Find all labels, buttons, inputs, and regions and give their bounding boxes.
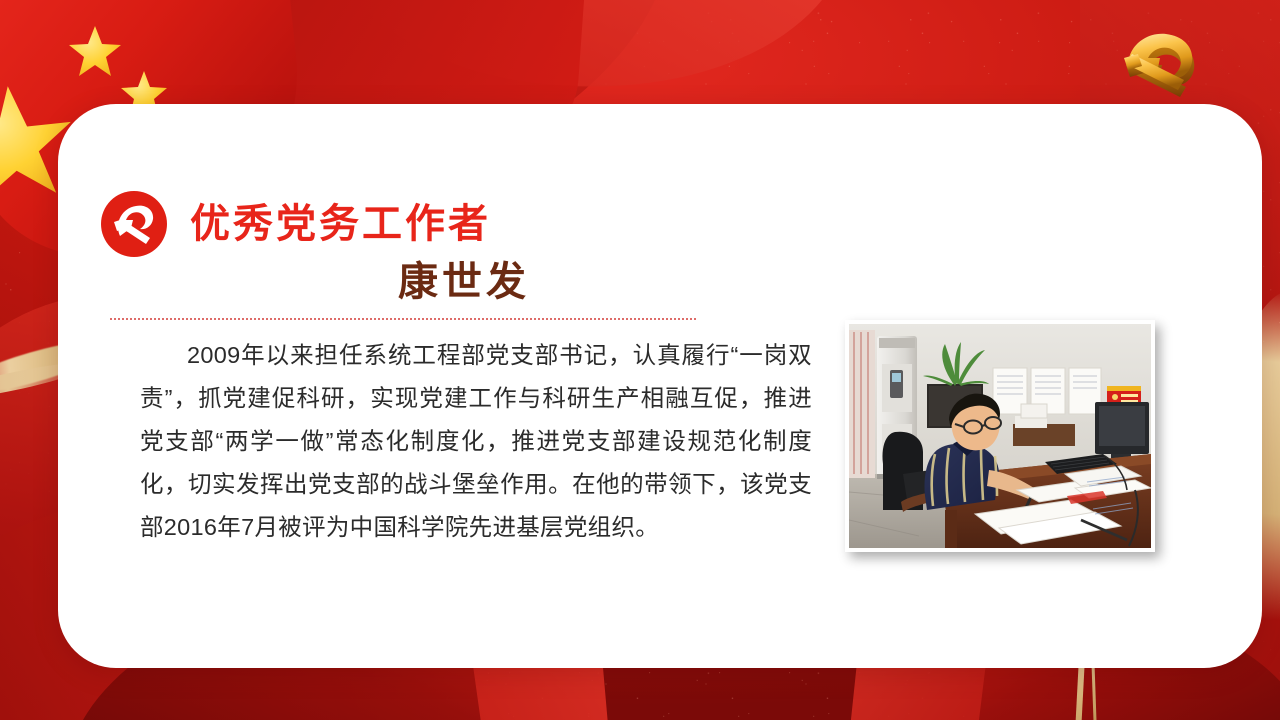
hammer-sickle-icon [1108,24,1226,108]
office-photo [849,324,1151,548]
body-paragraph: 2009年以来担任系统工程部党支部书记，认真履行“一岗双责”，抓党建促科研，实现… [140,334,812,549]
dotted-divider [110,318,696,320]
page-title: 优秀党务工作者 [190,204,491,244]
person-name: 康世发 [398,262,530,302]
content-card: 优秀党务工作者 康世发 2009年以来担任系统工程部党支部书记，认真履行“一岗双… [58,104,1262,668]
photo-frame [845,320,1155,552]
party-emblem-icon [100,190,168,258]
title-row: 优秀党务工作者 [100,190,491,258]
slide-root: 优秀党务工作者 康世发 2009年以来担任系统工程部党支部书记，认真履行“一岗双… [0,0,1280,720]
